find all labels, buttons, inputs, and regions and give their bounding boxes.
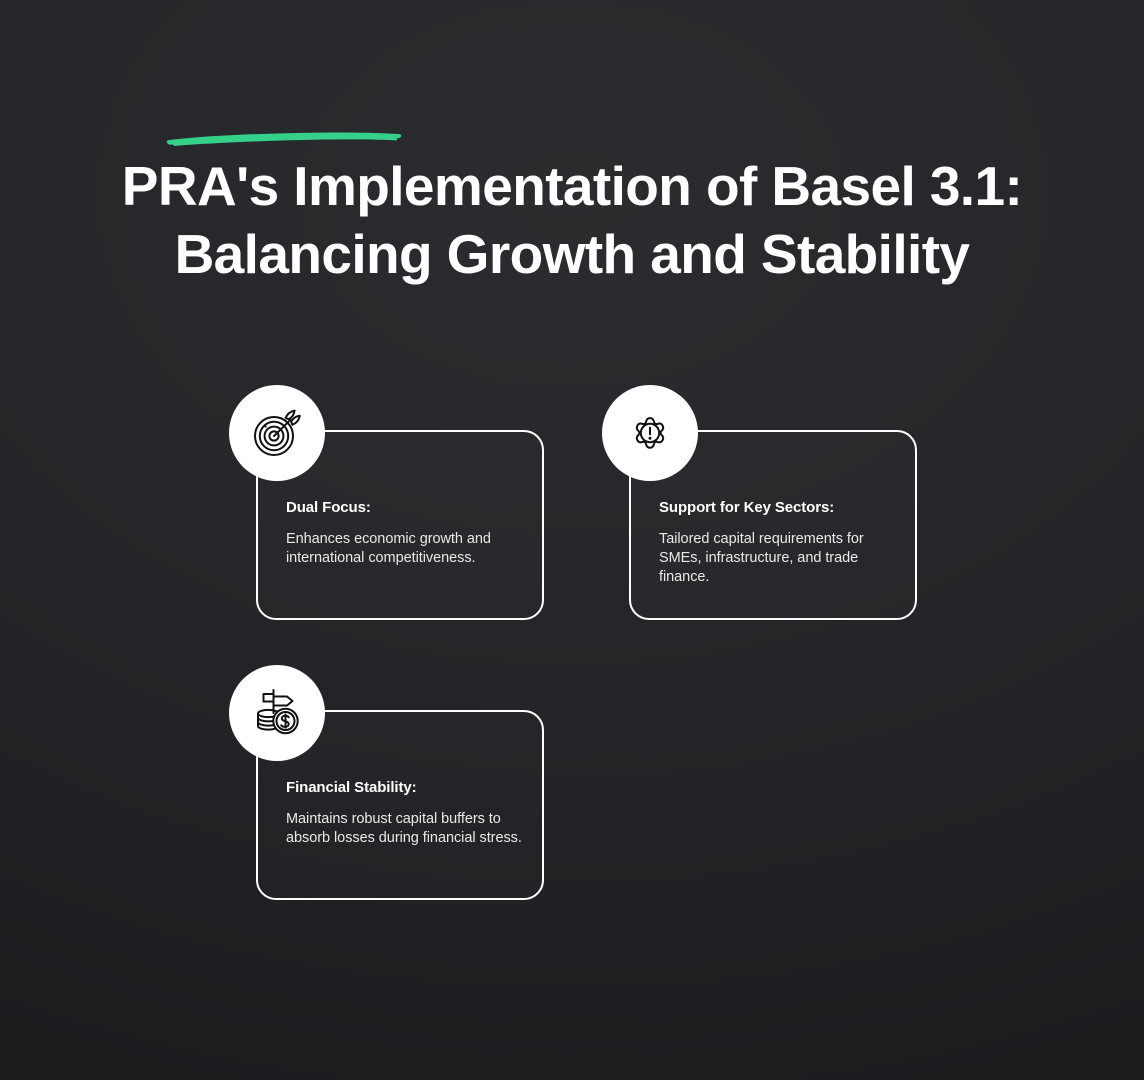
coins-signpost-icon: [229, 665, 325, 761]
title-line-2: Balancing Growth and Stability: [0, 220, 1144, 288]
page-title: PRA's Implementation of Basel 3.1: Balan…: [0, 152, 1144, 288]
card-body: Tailored capital requirements for SMEs, …: [659, 530, 897, 587]
card-body: Maintains robust capital buffers to abso…: [286, 810, 524, 848]
card-text-block: Financial Stability: Maintains robust ca…: [286, 778, 524, 848]
card-text-block: Support for Key Sectors: Tailored capita…: [659, 498, 897, 587]
card-heading: Support for Key Sectors:: [659, 498, 897, 518]
card-text-block: Dual Focus: Enhances economic growth and…: [286, 498, 524, 568]
title-line-1: PRA's Implementation of Basel 3.1:: [0, 152, 1144, 220]
card-heading: Financial Stability:: [286, 778, 524, 798]
target-icon: [229, 385, 325, 481]
gear-alert-icon: [602, 385, 698, 481]
title-underline-brushstroke: [165, 128, 403, 146]
slide-canvas: PRA's Implementation of Basel 3.1: Balan…: [0, 0, 1144, 1080]
card-body: Enhances economic growth and internation…: [286, 530, 524, 568]
card-heading: Dual Focus:: [286, 498, 524, 518]
